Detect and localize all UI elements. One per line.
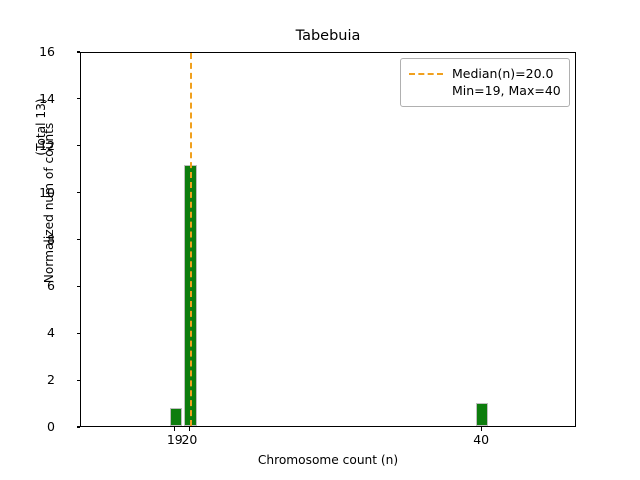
y-tick-label: 4 (0, 327, 55, 339)
median-line (190, 53, 192, 426)
x-tick-mark (189, 427, 190, 431)
x-tick-label: 20 (159, 433, 219, 447)
legend-label-median: Median(n)=20.0 (452, 66, 553, 81)
bar (170, 408, 182, 426)
legend: Median(n)=20.0 Min=19, Max=40 (400, 58, 570, 107)
dashed-line-icon (409, 73, 443, 75)
chart-figure: Tabebuia 0246810121416 Normalized num of… (0, 0, 640, 480)
x-tick-mark (174, 427, 175, 431)
y-tick-label: 16 (0, 46, 55, 58)
legend-label-minmax: Min=19, Max=40 (452, 83, 561, 98)
plot-area (80, 52, 576, 427)
chart-title: Tabebuia (80, 27, 576, 45)
x-tick-mark (481, 427, 482, 431)
y-tick-label: 2 (0, 374, 55, 386)
legend-item-median: Median(n)=20.0 (409, 65, 561, 82)
legend-item-minmax: Min=19, Max=40 (409, 82, 561, 99)
x-axis-label: Chromosome count (n) (80, 453, 576, 467)
y-tick-label: 0 (0, 421, 55, 433)
bar (476, 403, 488, 426)
x-tick-label: 40 (451, 433, 511, 447)
y-axis-total-label: (Total 13) (34, 72, 48, 182)
